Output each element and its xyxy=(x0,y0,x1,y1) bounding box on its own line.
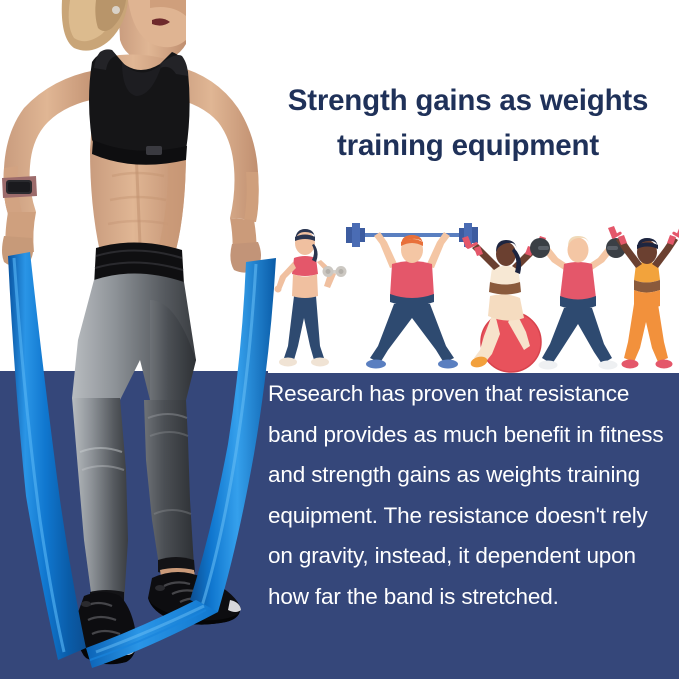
exercise-illustration-strip xyxy=(268,218,679,373)
page-title: Strength gains as weights training equip… xyxy=(266,78,670,168)
product-infographic: Strength gains as weights training equip… xyxy=(0,0,679,679)
body-paragraph: Research has proven that resistance band… xyxy=(268,374,676,617)
product-photo xyxy=(0,0,268,679)
